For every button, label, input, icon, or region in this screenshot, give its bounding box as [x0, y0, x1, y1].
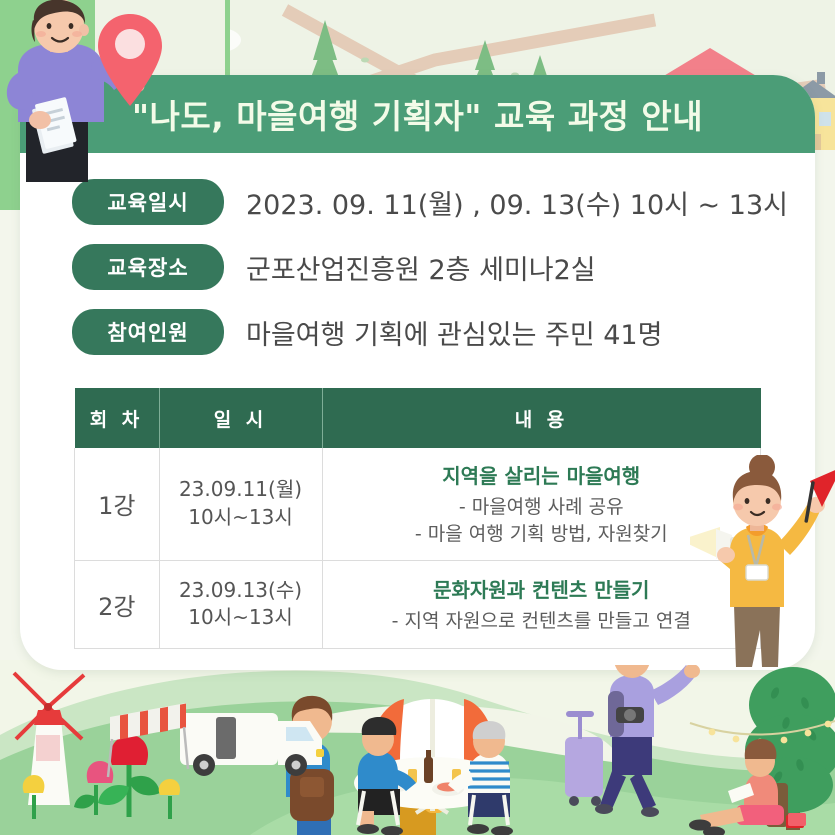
table-row: 1강 23.09.11(월) 10시~13시 지역을 살리는 마을여행 - 마을…	[75, 448, 761, 560]
location-pin-icon	[92, 10, 168, 110]
schedule-table: 회 차 일 시 내 용 1강 23.09.11(월) 10시~13시 지역을 살…	[74, 388, 761, 649]
column-header-session: 회 차	[75, 388, 160, 448]
bottom-illustration	[0, 665, 835, 835]
tour-guide-illustration	[690, 455, 835, 674]
cell-session-no-1: 1강	[75, 448, 160, 560]
info-label-location: 교육장소	[72, 244, 224, 290]
info-value-location: 군포산업진흥원 2층 세미나2실	[246, 248, 596, 287]
table-row: 2강 23.09.13(수) 10시~13시 문화자원과 컨텐츠 만들기 - 지…	[75, 560, 761, 648]
info-value-participants: 마을여행 기획에 관심있는 주민 41명	[246, 313, 662, 352]
map-pin-icon	[92, 10, 168, 114]
session-line-1-2: - 마을 여행 기획 방법, 자원찾기	[331, 521, 753, 548]
trees-and-reader-illustration	[689, 667, 835, 835]
schedule-table-body: 1강 23.09.11(월) 10시~13시 지역을 살리는 마을여행 - 마을…	[75, 448, 761, 648]
cell-date-line-1: 23.09.11(월)	[161, 476, 321, 504]
session-line-1-1: - 마을여행 사례 공유	[331, 494, 753, 521]
cell-time-line-1: 10시~13시	[161, 504, 321, 532]
info-row-participants: 참여인원 마을여행 기획에 관심있는 주민 41명	[72, 309, 815, 355]
session-title-1: 지역을 살리는 마을여행	[331, 460, 753, 489]
cell-date-line-2: 23.09.13(수)	[161, 577, 321, 605]
bottom-scene-illustration	[0, 665, 835, 835]
info-label-participants: 참여인원	[72, 309, 224, 355]
session-title-2: 문화자원과 컨텐츠 만들기	[331, 574, 753, 603]
column-header-datetime: 일 시	[159, 388, 322, 448]
cell-datetime-1: 23.09.11(월) 10시~13시	[159, 448, 322, 560]
schedule-table-head: 회 차 일 시 내 용	[75, 388, 761, 448]
cell-session-no-2: 2강	[75, 560, 160, 648]
column-header-content: 내 용	[322, 388, 761, 448]
info-row-location: 교육장소 군포산업진흥원 2층 세미나2실	[72, 244, 815, 290]
schedule-table-wrapper: 회 차 일 시 내 용 1강 23.09.11(월) 10시~13시 지역을 살…	[74, 388, 761, 649]
cell-time-line-2: 10시~13시	[161, 604, 321, 632]
guide-woman-illustration	[690, 455, 835, 670]
info-value-schedule: 2023. 09. 11(월) , 09. 13(수) 10시 ~ 13시	[246, 183, 788, 222]
table-header-row: 회 차 일 시 내 용	[75, 388, 761, 448]
cell-datetime-2: 23.09.13(수) 10시~13시	[159, 560, 322, 648]
session-line-2-1: - 지역 자원으로 컨텐츠를 만들고 연결	[331, 608, 753, 635]
traveler-with-suitcase-illustration	[565, 665, 700, 817]
poster: "나도, 마을여행 기획자" 교육 과정 안내 교육일시 2023. 09. 1…	[0, 0, 835, 835]
